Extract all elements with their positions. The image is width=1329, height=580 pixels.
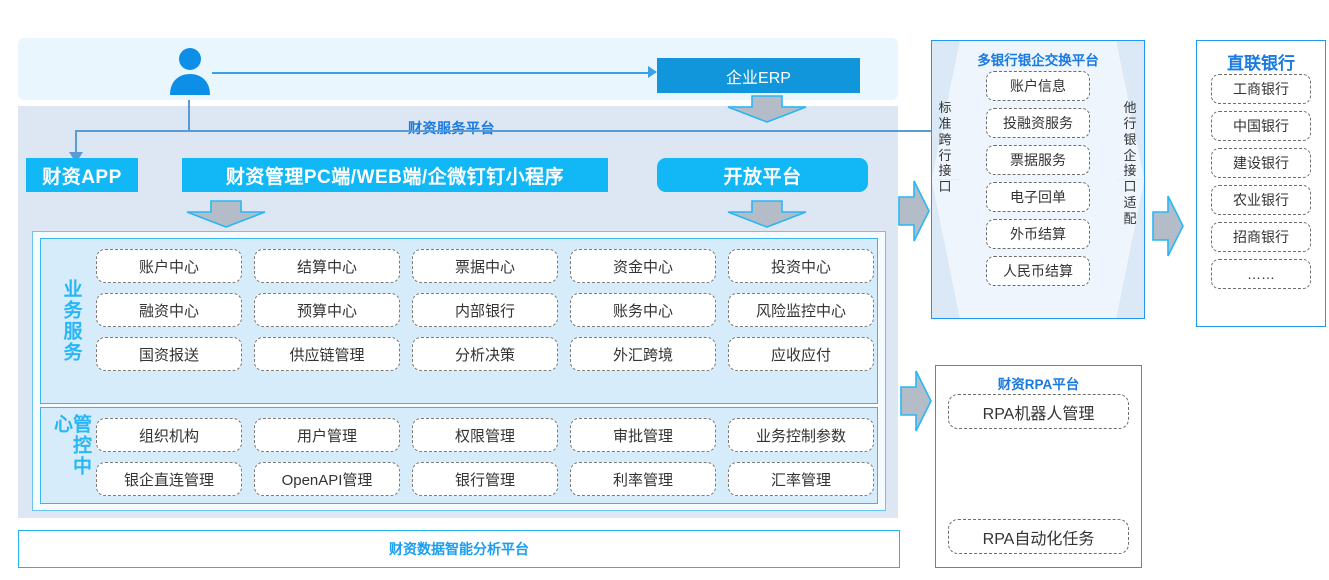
service-tile[interactable]: 预算中心: [254, 293, 400, 327]
service-tile[interactable]: 资金中心: [570, 249, 716, 283]
bank-service-tile[interactable]: 电子回单: [986, 182, 1090, 212]
control-center-grid: 组织机构用户管理权限管理审批管理业务控制参数银企直连管理OpenAPI管理银行管…: [96, 418, 874, 496]
service-tile[interactable]: 外汇跨境: [570, 337, 716, 371]
service-tile[interactable]: 应收应付: [728, 337, 874, 371]
bank-tile[interactable]: 工商银行: [1211, 74, 1311, 104]
bank-service-tile[interactable]: 账户信息: [986, 71, 1090, 101]
control-tile[interactable]: 银企直连管理: [96, 462, 242, 496]
arrow-right-icon: [648, 66, 657, 78]
bank-exchange-title: 多银行银企交换平台: [932, 49, 1144, 69]
control-tile[interactable]: 利率管理: [570, 462, 716, 496]
control-center-label: 管控中心: [58, 414, 84, 494]
arrow-right-icon: [1152, 195, 1184, 257]
control-tile[interactable]: OpenAPI管理: [254, 462, 400, 496]
connector-left-drop: [75, 130, 77, 154]
service-tile[interactable]: 账户中心: [96, 249, 242, 283]
enterprise-erp-box[interactable]: 企业ERP: [657, 58, 860, 93]
business-services-grid: 账户中心结算中心票据中心资金中心投资中心融资中心预算中心内部银行账务中心风险监控…: [96, 249, 874, 371]
control-tile[interactable]: 权限管理: [412, 418, 558, 452]
service-tile[interactable]: 风险监控中心: [728, 293, 874, 327]
business-services-label: 业务服务: [58, 248, 84, 394]
platform-title: 财资服务平台: [408, 118, 495, 138]
bank-service-tile[interactable]: 人民币结算: [986, 256, 1090, 286]
control-tile[interactable]: 组织机构: [96, 418, 242, 452]
bank-tile[interactable]: 中国银行: [1211, 111, 1311, 141]
other-bank-adapter-label: 他行银企接口适配: [1122, 100, 1138, 227]
service-tile[interactable]: 结算中心: [254, 249, 400, 283]
service-tile[interactable]: 账务中心: [570, 293, 716, 327]
rpa-tile[interactable]: RPA自动化任务: [948, 519, 1129, 554]
direct-banks-title: 直联银行: [1197, 49, 1325, 74]
bank-exchange-list: 账户信息投融资服务票据服务电子回单外币结算人民币结算: [986, 71, 1090, 293]
standard-interbank-interface-label: 标准跨行接口: [937, 100, 953, 195]
user-to-erp-line: [212, 72, 652, 74]
rpa-panel: 财资RPA平台 RPA机器人管理RPA自动化任务: [935, 365, 1142, 568]
connector-bar: [75, 130, 1015, 132]
rpa-tile[interactable]: RPA机器人管理: [948, 394, 1129, 429]
arrow-right-icon: [898, 180, 930, 242]
bank-tile[interactable]: 农业银行: [1211, 185, 1311, 215]
service-tile[interactable]: 投资中心: [728, 249, 874, 283]
arrow-right-icon: [900, 370, 932, 432]
bank-service-tile[interactable]: 外币结算: [986, 219, 1090, 249]
service-tile[interactable]: 供应链管理: [254, 337, 400, 371]
service-tile[interactable]: 融资中心: [96, 293, 242, 327]
direct-banks-list: 工商银行中国银行建设银行农业银行招商银行……: [1211, 74, 1311, 296]
arrow-down-icon: [186, 200, 266, 228]
control-tile[interactable]: 银行管理: [412, 462, 558, 496]
open-platform-box[interactable]: 开放平台: [657, 158, 868, 192]
bank-exchange-panel: 多银行银企交换平台 账户信息投融资服务票据服务电子回单外币结算人民币结算: [931, 40, 1145, 319]
control-tile[interactable]: 用户管理: [254, 418, 400, 452]
client-app-box[interactable]: 财资APP: [26, 158, 138, 192]
arrow-down-icon: [727, 200, 807, 228]
service-tile[interactable]: 国资报送: [96, 337, 242, 371]
control-tile[interactable]: 汇率管理: [728, 462, 874, 496]
service-tile[interactable]: 内部银行: [412, 293, 558, 327]
user-icon: [168, 47, 212, 95]
client-pc-web-box[interactable]: 财资管理PC端/WEB端/企微钉钉小程序: [182, 158, 608, 192]
connector-stem: [188, 100, 190, 132]
bank-tile[interactable]: 建设银行: [1211, 148, 1311, 178]
control-tile[interactable]: 业务控制参数: [728, 418, 874, 452]
bank-tile[interactable]: ……: [1211, 259, 1311, 289]
service-tile[interactable]: 分析决策: [412, 337, 558, 371]
arrow-down-icon: [727, 95, 807, 123]
rpa-title: 财资RPA平台: [936, 373, 1141, 393]
direct-banks-panel: 直联银行 工商银行中国银行建设银行农业银行招商银行……: [1196, 40, 1326, 327]
analysis-platform-bar[interactable]: 财资数据智能分析平台: [18, 530, 900, 568]
bank-service-tile[interactable]: 票据服务: [986, 145, 1090, 175]
bank-service-tile[interactable]: 投融资服务: [986, 108, 1090, 138]
rpa-list: RPA机器人管理RPA自动化任务: [948, 394, 1129, 554]
control-tile[interactable]: 审批管理: [570, 418, 716, 452]
bank-tile[interactable]: 招商银行: [1211, 222, 1311, 252]
service-tile[interactable]: 票据中心: [412, 249, 558, 283]
